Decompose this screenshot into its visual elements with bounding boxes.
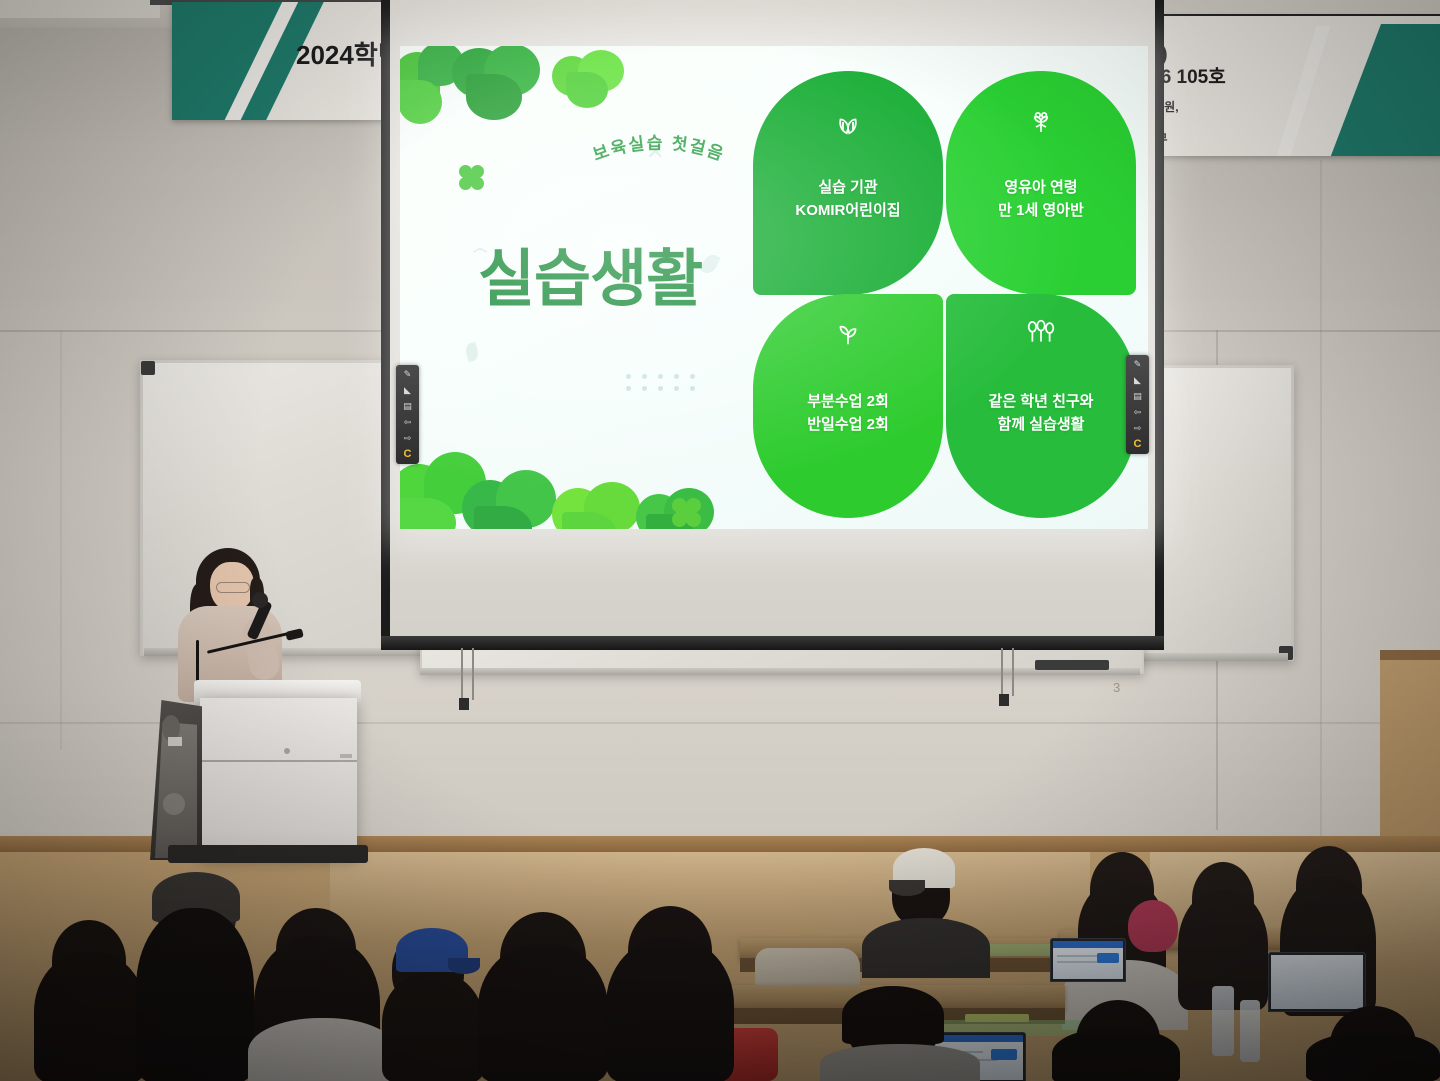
student-hair [606,938,734,1081]
student-hair [1052,1028,1180,1081]
projection-screen-unit: ✕ ෴ 보육실습 첫걸음 실습생활 [381,0,1164,660]
student-hair [382,972,484,1081]
screen-clip [999,694,1009,706]
eraser-icon[interactable]: ◣ [400,384,415,397]
pencil-case [965,1014,1029,1022]
podium-lock [284,748,290,754]
ceiling-strip [0,0,160,18]
pen-icon[interactable]: ✎ [400,368,415,381]
screen-cord [461,648,463,700]
water-bottle [1240,1000,1260,1062]
petal-bottom-left: 부분수업 2회 반일수업 2회 [753,294,943,518]
projector-toolbar-right[interactable]: ✎ ◣ ▤ ⇦ ⇨ C [1126,355,1149,454]
cap-brim [448,958,480,974]
student-shoulders [862,918,990,978]
projector-toolbar-left[interactable]: ✎ ◣ ▤ ⇦ ⇨ C [396,365,419,464]
student-shoulders [248,1018,398,1081]
podium-switch[interactable] [168,737,182,746]
dot-grid-decoration [626,374,695,391]
student-hair [136,908,254,1081]
wall-wood-panel [1380,650,1440,850]
wall-panel-edge [1320,160,1322,840]
screen-cord [1012,648,1014,696]
screen-edge-left [381,0,390,648]
clover-decoration [552,50,634,106]
leaf-speck [700,252,721,276]
clover-small-icon [672,498,702,528]
screen-edge-right [1155,0,1164,648]
glasses-icon [216,582,250,593]
slide-title: 실습생활 [478,228,702,318]
whiteboard-center-tray [420,668,1140,675]
podium-front [200,698,357,858]
screen-cord [472,648,474,700]
petal-top-left-line1: 실습 기관 [753,178,943,198]
clover-decoration [452,46,552,120]
student-hair [478,944,608,1081]
tablet[interactable] [1268,952,1366,1012]
petal-top-right: 영유아 연령 만 1세 영아반 [946,71,1136,295]
banner-graphic-slash [1268,26,1331,156]
screenshot-root: 2024학년 일(화) 교 W6 105호 책전문위원, 나 리아 상무 [0,0,1440,1081]
seedling-icon [753,318,943,348]
student-hair [34,952,146,1081]
screen-clip [459,698,469,710]
note-icon[interactable]: ▤ [400,400,415,413]
redo-icon[interactable]: ⇨ [1130,422,1145,435]
undo-icon[interactable]: ⇦ [1130,406,1145,419]
water-bottle [1212,986,1234,1056]
petal-top-right-line1: 영유아 연령 [946,178,1136,198]
sprout-flower-icon [946,107,1136,137]
wall-wood-trim [1380,650,1440,660]
leaf-speck [464,342,481,363]
cap-brim [889,880,925,896]
trees-icon [946,318,1136,348]
laptop[interactable] [1050,938,1126,982]
eraser-icon[interactable]: ◣ [1130,374,1145,387]
podium-seam [200,760,357,762]
black-cap [842,986,944,1044]
laser-pointer-icon[interactable]: C [400,448,415,461]
banner-right: 일(화) 교 W6 105호 책전문위원, 나 리아 상무 [1124,16,1440,156]
wall-marking: 3 [1113,680,1120,695]
petal-top-left: 실습 기관 KOMIR어린이집 [753,71,943,295]
student-shoulders [820,1044,980,1081]
leaves-icon [753,107,943,137]
wall-panel-edge [60,330,62,750]
projected-slide: ✕ ෴ 보육실습 첫걸음 실습생활 [400,46,1148,529]
clover-small-icon [459,165,485,191]
podium-label [340,754,352,758]
screen-cord [1001,648,1003,696]
marker-tray-items [1035,660,1109,670]
petal-top-left-line2: KOMIR어린이집 [753,201,943,221]
petal-top-right-line2: 만 1세 영아반 [946,201,1136,221]
petal-bottom-right-line2: 함께 실습생활 [946,415,1136,435]
petal-bottom-left-line2: 반일수업 2회 [753,415,943,435]
petal-bottom-left-line1: 부분수업 2회 [753,392,943,412]
microphone-head [252,592,268,608]
podium-control-knob[interactable] [163,793,185,815]
screen-bottom-bar[interactable] [381,636,1164,650]
student-hair [1306,1032,1440,1081]
podium-base [168,845,368,863]
presenter [168,548,298,698]
petal-bottom-right-line1: 같은 학년 친구와 [946,392,1136,412]
pen-icon[interactable]: ✎ [1130,358,1145,371]
redo-icon[interactable]: ⇨ [400,432,415,445]
student-pink-top [1128,900,1178,952]
note-icon[interactable]: ▤ [1130,390,1145,403]
laser-pointer-icon[interactable]: C [1130,438,1145,451]
petal-bottom-right: 같은 학년 친구와 함께 실습생활 [946,294,1136,518]
banner-graphic [1324,24,1440,156]
undo-icon[interactable]: ⇦ [400,416,415,429]
